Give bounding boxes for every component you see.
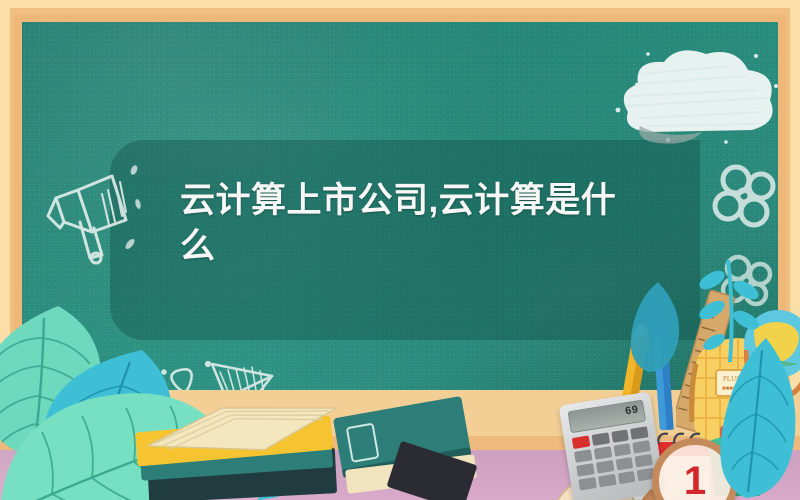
magnifier-number: 1 <box>659 445 731 500</box>
calculator-key[interactable] <box>617 471 635 484</box>
calculator-keypad[interactable] <box>572 426 655 490</box>
calculator-key[interactable] <box>596 460 614 473</box>
calculator-key[interactable] <box>635 454 653 467</box>
calculator-key[interactable] <box>630 426 648 439</box>
calculator-key-ac[interactable] <box>572 436 590 449</box>
calculator-key[interactable] <box>613 443 631 456</box>
backpack-label: PLUS <box>723 375 740 383</box>
calculator-key[interactable] <box>578 477 596 490</box>
calculator-key[interactable] <box>576 463 594 476</box>
page-title: 云计算上市公司,云计算是什么 <box>180 178 650 269</box>
calculator-key[interactable] <box>598 474 616 487</box>
calculator-key[interactable] <box>574 449 592 462</box>
svg-text:■■■■■: ■■■■■ <box>722 386 740 392</box>
globe-icon <box>744 300 800 420</box>
magnifier-icon: 1 <box>652 438 738 500</box>
calculator-key[interactable] <box>591 432 609 445</box>
calculator[interactable]: 69 <box>559 391 666 500</box>
banner-image: 云计算上市公司,云计算是什么 <box>0 0 800 500</box>
calculator-key[interactable] <box>594 446 612 459</box>
calculator-key[interactable] <box>615 457 633 470</box>
calculator-key[interactable] <box>611 429 629 442</box>
open-book-top <box>140 396 344 458</box>
calculator-key[interactable] <box>633 440 651 453</box>
